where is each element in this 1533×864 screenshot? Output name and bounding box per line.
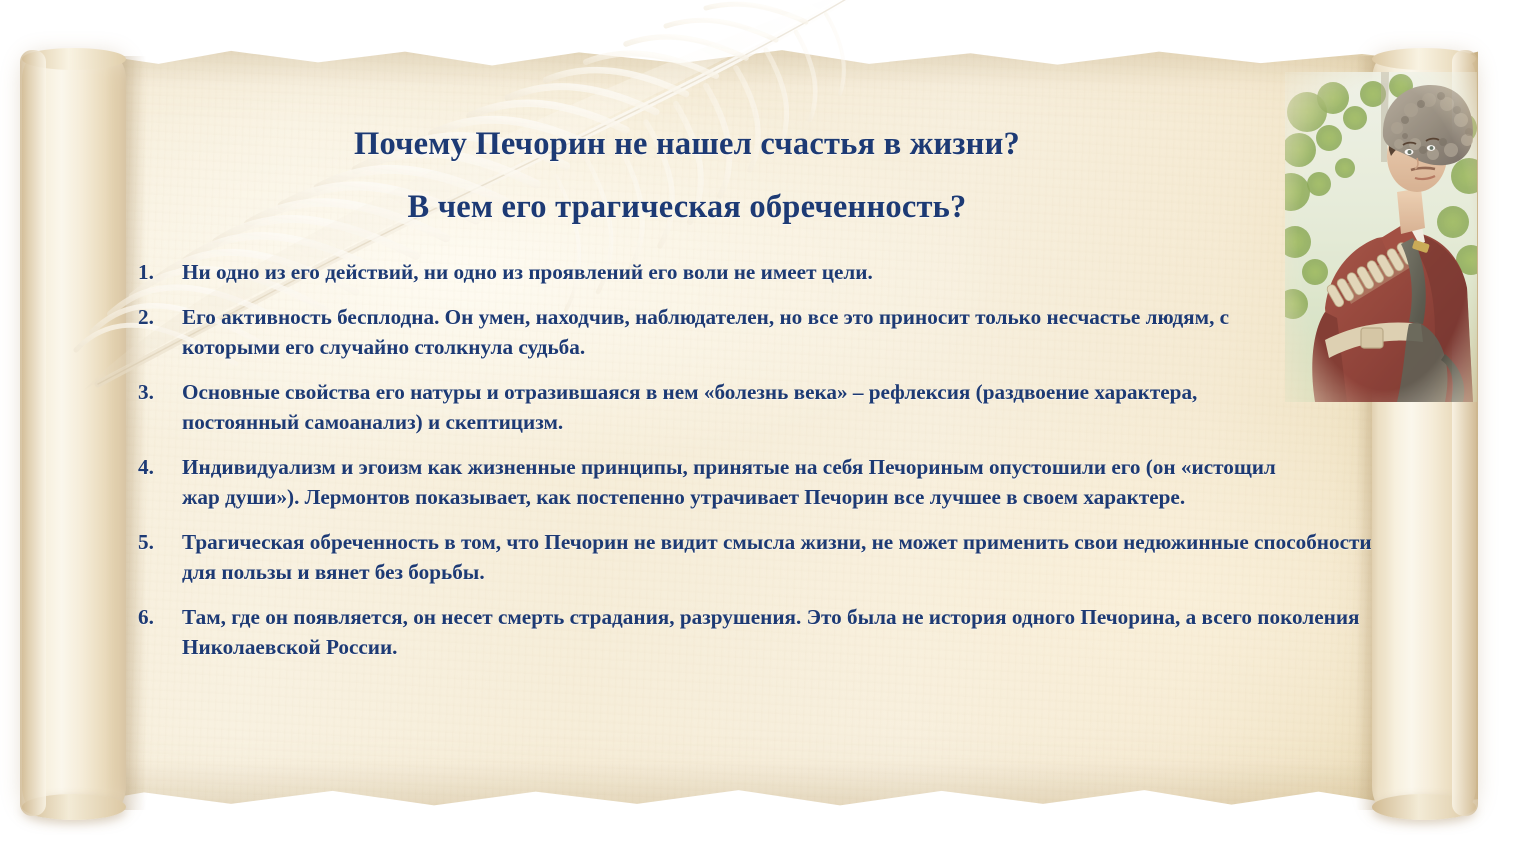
list-item: 6. Там, где он появляется, он несет смер… bbox=[138, 602, 1374, 663]
slide-canvas: Почему Печорин не нашел счастья в жизни?… bbox=[0, 0, 1533, 864]
list-item-number: 1. bbox=[138, 257, 168, 288]
list-item: 1. Ни одно из его действий, ни одно из п… bbox=[138, 257, 1374, 288]
list-item: 5. Трагическая обреченность в том, что П… bbox=[138, 527, 1374, 588]
list-item-text: Основные свойства его натуры и отразивша… bbox=[182, 377, 1292, 438]
slide-content: Почему Печорин не нашел счастья в жизни?… bbox=[118, 44, 1374, 810]
title-line-2: В чем его трагическая обреченность? bbox=[118, 191, 1256, 224]
list-item-number: 5. bbox=[138, 527, 168, 558]
title-line-1: Почему Печорин не нашел счастья в жизни? bbox=[118, 128, 1256, 161]
list-item: 2. Его активность бесплодна. Он умен, на… bbox=[138, 302, 1374, 363]
list-item: 4. Индивидуализм и эгоизм как жизненные … bbox=[138, 452, 1374, 513]
list-item-text: Ни одно из его действий, ни одно из проя… bbox=[182, 257, 1292, 288]
list-item-number: 2. bbox=[138, 302, 168, 333]
slide-title: Почему Печорин не нашел счастья в жизни?… bbox=[118, 128, 1374, 223]
list-item-text: Там, где он появляется, он несет смерть … bbox=[182, 602, 1374, 663]
list-item-text: Индивидуализм и эгоизм как жизненные при… bbox=[182, 452, 1292, 513]
list-item-text: Его активность бесплодна. Он умен, наход… bbox=[182, 302, 1292, 363]
list-item-number: 4. bbox=[138, 452, 168, 483]
reasons-list: 1. Ни одно из его действий, ни одно из п… bbox=[118, 257, 1374, 663]
list-item-number: 3. bbox=[138, 377, 168, 408]
list-item-text: Трагическая обреченность в том, что Печо… bbox=[182, 527, 1374, 588]
list-item: 3. Основные свойства его натуры и отрази… bbox=[138, 377, 1374, 438]
list-item-number: 6. bbox=[138, 602, 168, 633]
